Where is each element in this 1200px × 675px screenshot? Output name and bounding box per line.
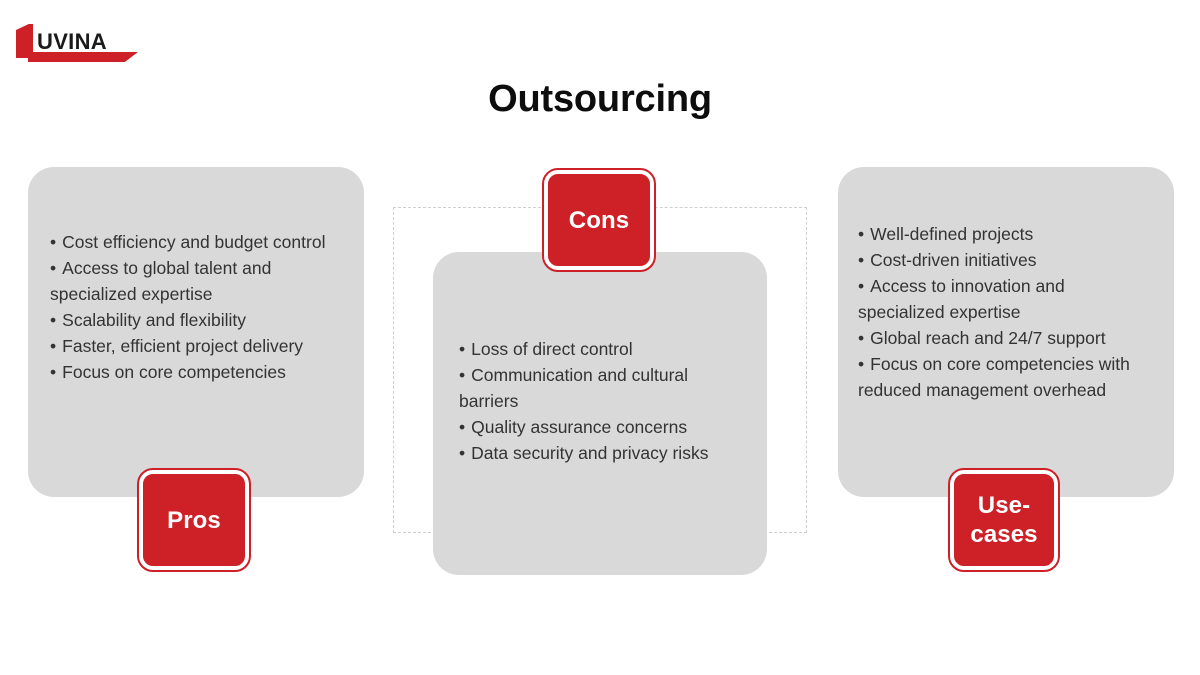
badge-usecases-label: Use-cases — [954, 491, 1054, 549]
logo-wordmark: UVINA — [37, 25, 107, 57]
card-pros: Cost efficiency and budget controlAccess… — [28, 167, 364, 497]
badge-pros[interactable]: Pros — [139, 470, 249, 570]
list-item: Access to global talent and specialized … — [50, 255, 340, 307]
list-item: Scalability and flexibility — [50, 307, 340, 333]
list-item: Loss of direct control — [459, 336, 747, 362]
list-item: Access to innovation and specialized exp… — [858, 273, 1156, 325]
badge-cons[interactable]: Cons — [544, 170, 654, 270]
list-item: Global reach and 24/7 support — [858, 325, 1156, 351]
list-item: Quality assurance concerns — [459, 414, 747, 440]
list-item: Focus on core competencies — [50, 359, 340, 385]
badge-pros-label: Pros — [163, 506, 225, 535]
logo-wordmark-text: UVINA — [37, 29, 107, 54]
badge-cons-label: Cons — [565, 206, 633, 235]
list-item: Cost efficiency and budget control — [50, 229, 340, 255]
badge-usecases[interactable]: Use-cases — [950, 470, 1058, 570]
pros-list: Cost efficiency and budget controlAccess… — [50, 229, 340, 385]
list-item: Communication and cultural barriers — [459, 362, 747, 414]
card-usecases: Well-defined projectsCost-driven initiat… — [838, 167, 1174, 497]
list-item: Well-defined projects — [858, 221, 1156, 247]
luvina-logo: UVINA — [16, 22, 196, 68]
cons-list: Loss of direct controlCommunication and … — [459, 336, 747, 466]
card-cons: Loss of direct controlCommunication and … — [433, 252, 767, 575]
list-item: Data security and privacy risks — [459, 440, 747, 466]
list-item: Faster, efficient project delivery — [50, 333, 340, 359]
page-title: Outsourcing — [0, 78, 1200, 121]
list-item: Cost-driven initiatives — [858, 247, 1156, 273]
usecases-list: Well-defined projectsCost-driven initiat… — [858, 221, 1156, 403]
list-item: Focus on core competencies with reduced … — [858, 351, 1156, 403]
